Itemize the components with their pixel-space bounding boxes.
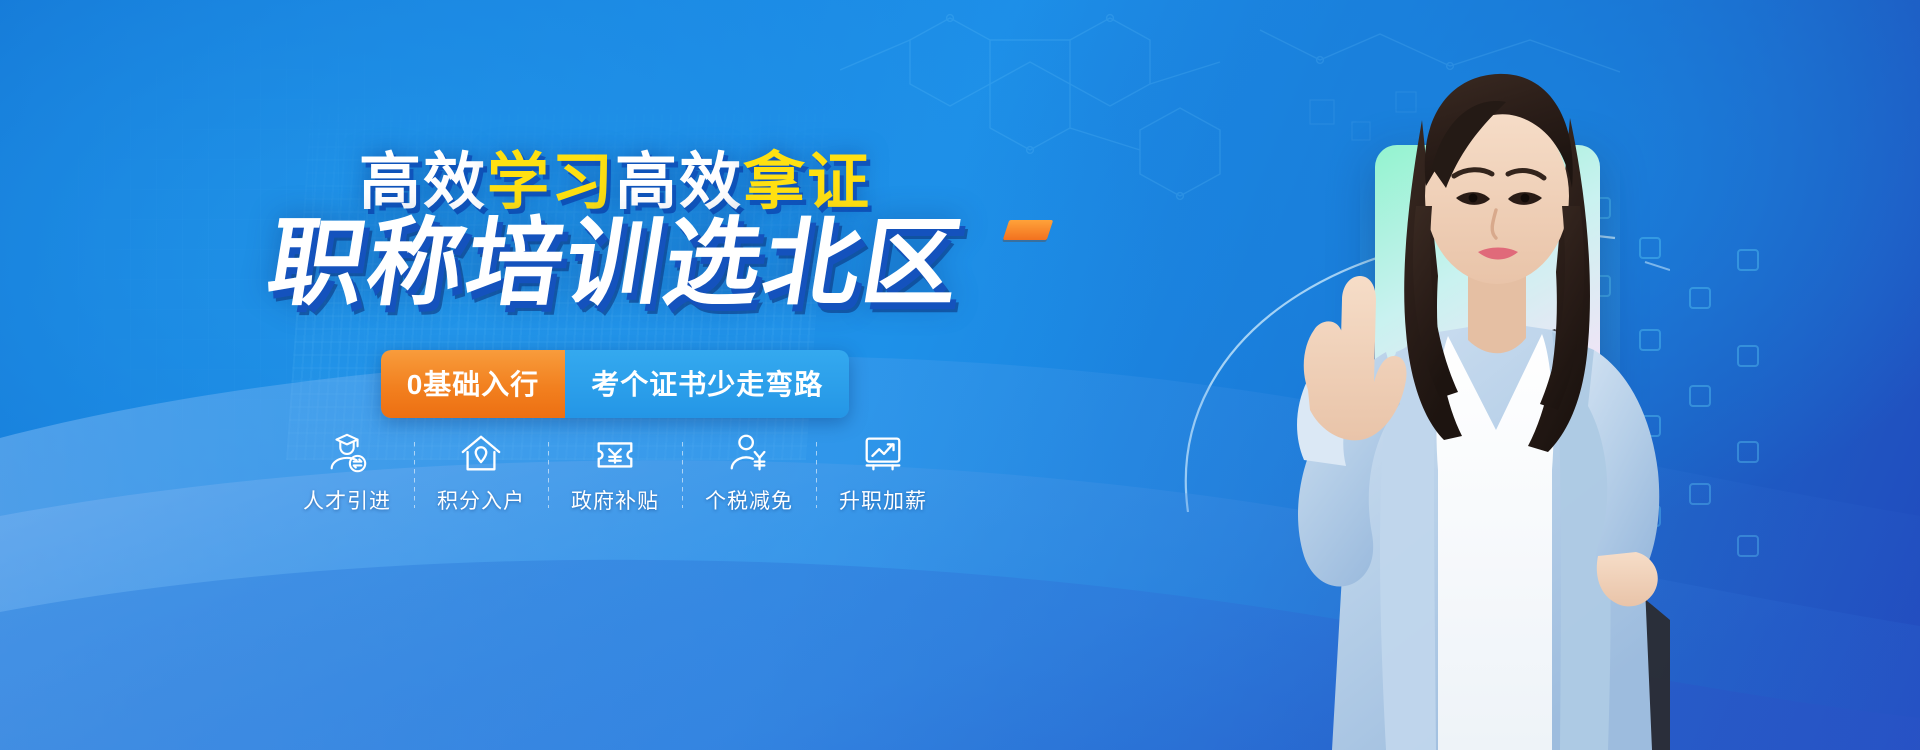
- feature-label: 积分入户: [437, 485, 525, 515]
- businesswoman-illustration: [1200, 0, 1920, 750]
- feature-item-subsidy[interactable]: 政府补贴: [549, 430, 682, 515]
- growth-chart-icon: [860, 430, 906, 476]
- sub-headline: 高效学习高效拿证: [0, 152, 1230, 214]
- house-pin-icon: [458, 430, 504, 476]
- feature-label: 升职加薪: [839, 485, 927, 515]
- promo-banner: 高效学习高效拿证 职称培训选北区 0基础入行 考个证书少走弯路: [0, 0, 1920, 750]
- main-headline-wrap: 职称培训选北区: [0, 214, 1230, 315]
- sub-headline-seg-2: 学习: [487, 148, 615, 217]
- feature-item-taxcut[interactable]: 个税减免: [683, 430, 816, 515]
- badge-row: 0基础入行 考个证书少走弯路: [381, 350, 850, 418]
- badge-primary: 0基础入行: [381, 350, 566, 418]
- person-yuan-icon: [726, 430, 772, 476]
- feature-separator: [548, 442, 549, 508]
- badge-secondary: 考个证书少走弯路: [565, 350, 849, 418]
- feature-separator: [414, 442, 415, 508]
- main-headline: 职称培训选北区: [261, 214, 970, 315]
- subsidy-ticket-icon: [592, 430, 638, 476]
- orange-accent-mark-icon: [1003, 220, 1053, 240]
- feature-item-promotion[interactable]: 升职加薪: [817, 430, 950, 515]
- feature-label: 个税减免: [705, 485, 793, 515]
- feature-item-hukou[interactable]: 积分入户: [415, 430, 548, 515]
- badge-row-wrap: 0基础入行 考个证书少走弯路: [0, 350, 1230, 418]
- copy-block: 高效学习高效拿证 职称培训选北区 0基础入行 考个证书少走弯路: [0, 0, 1230, 750]
- sub-headline-seg-1: 高效: [359, 148, 487, 217]
- feature-separator: [682, 442, 683, 508]
- feature-list: 人才引进 积分入户 政府补贴: [0, 430, 1230, 515]
- sub-headline-seg-3: 高效: [615, 148, 743, 217]
- feature-label: 人才引进: [303, 485, 391, 515]
- sub-headline-seg-4: 拿证: [743, 148, 871, 217]
- feature-item-talent[interactable]: 人才引进: [281, 430, 414, 515]
- person-composition: [1200, 0, 1920, 750]
- graduate-exchange-icon: [324, 430, 370, 476]
- feature-separator: [816, 442, 817, 508]
- feature-label: 政府补贴: [571, 485, 659, 515]
